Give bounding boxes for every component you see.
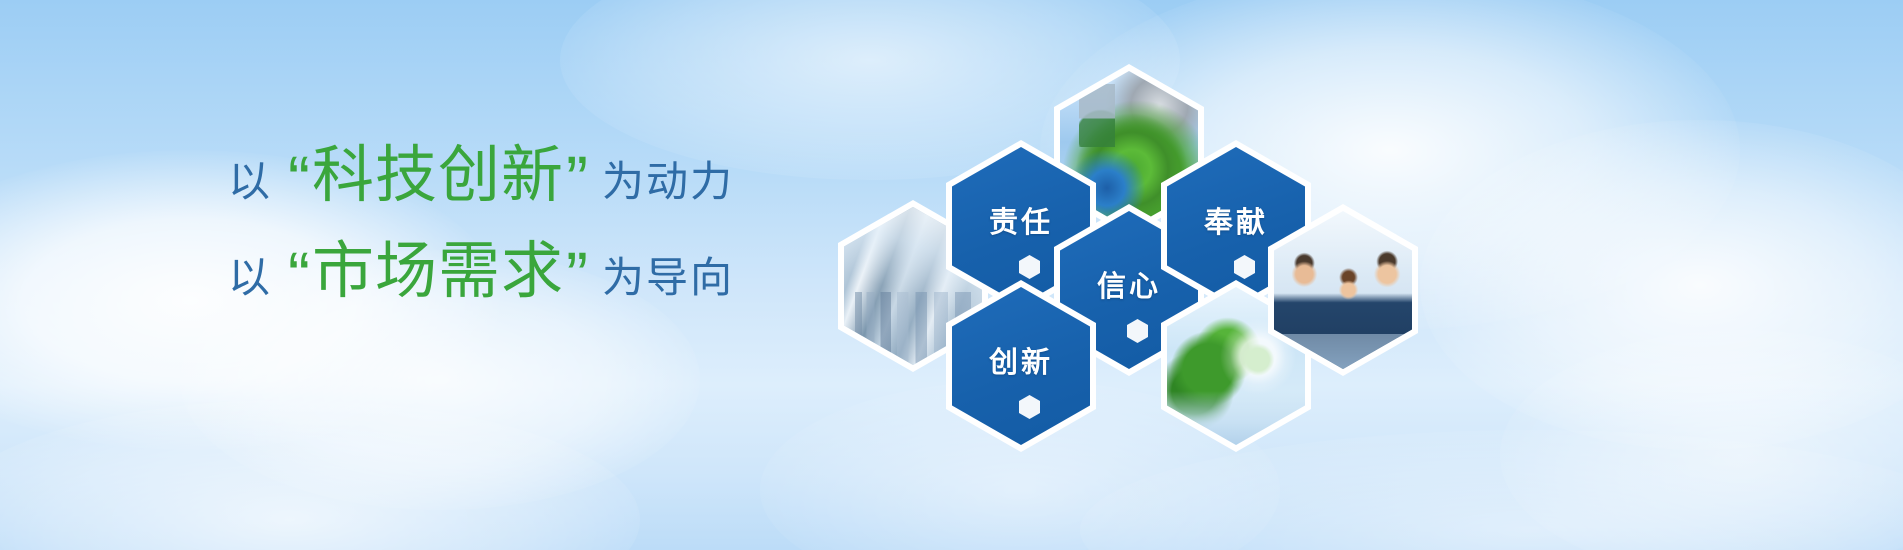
cloud-decoration	[1420, 120, 1903, 450]
mini-hexagon-icon	[1019, 395, 1040, 419]
cloud-decoration	[0, 400, 640, 550]
promo-banner: 以 “ 科技创新 ” 为动力 以 “ 市场需求 ” 为导向	[0, 0, 1903, 550]
slogan-line1-tail: 为动力	[602, 161, 734, 203]
slogan-line2-open-quote: “	[286, 242, 312, 308]
slogan-line2-tail: 为导向	[602, 257, 734, 299]
slogan-line2-lead: 以	[228, 257, 272, 299]
slogan-line1-emphasis: 科技创新	[312, 145, 564, 207]
slogan-line-1: 以 “ 科技创新 ” 为动力	[228, 140, 848, 236]
mini-hexagon-icon	[1234, 255, 1255, 279]
hexagon-label-innovation: 创新	[989, 339, 1053, 381]
slogan-block: 以 “ 科技创新 ” 为动力 以 “ 市场需求 ” 为导向	[228, 140, 848, 332]
slogan-line2-close-quote: ”	[564, 242, 590, 308]
mini-hexagon-icon	[1019, 255, 1040, 279]
cloud-decoration	[1500, 330, 1903, 550]
hexagon-label-confidence: 信心	[1097, 263, 1161, 305]
hexagon-cluster: 责任 信心 创新 奉献	[816, 52, 1416, 402]
business-team-thumbs-up-photo	[1274, 211, 1412, 369]
slogan-line2-emphasis: 市场需求	[312, 241, 564, 303]
hexagon-label-responsibility: 责任	[989, 199, 1053, 241]
slogan-line1-open-quote: “	[286, 146, 312, 212]
cloud-decoration	[1080, 430, 1903, 550]
slogan-line-2: 以 “ 市场需求 ” 为导向	[228, 236, 848, 332]
hexagon-label-dedication: 奉献	[1204, 199, 1268, 241]
mini-hexagon-icon	[1127, 319, 1148, 343]
slogan-line1-lead: 以	[228, 161, 272, 203]
slogan-line1-close-quote: ”	[564, 146, 590, 212]
